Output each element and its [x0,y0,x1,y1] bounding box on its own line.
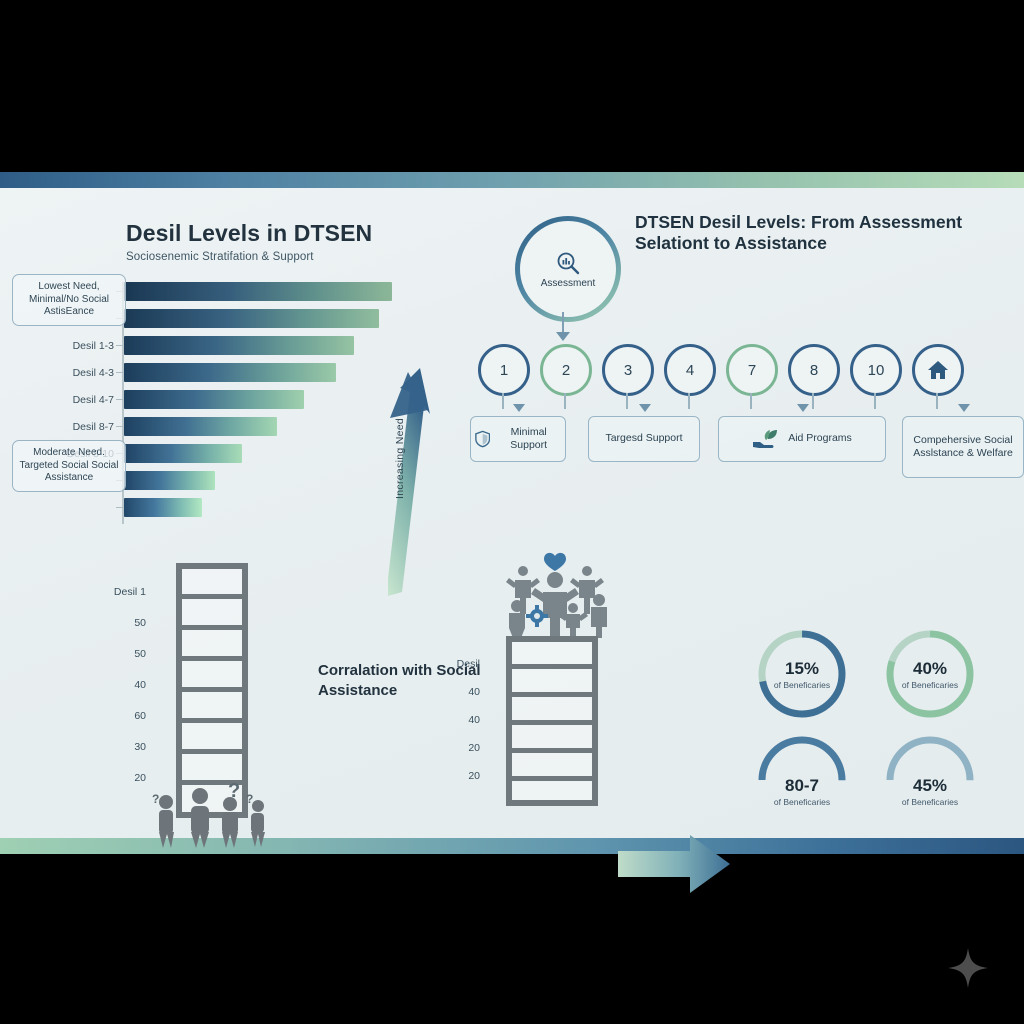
bar [124,282,392,301]
node-stem [502,393,504,409]
magnifier-chart-icon [555,250,581,276]
table-row [124,282,392,301]
people-heart-gear-icon [495,548,615,638]
ladder-label: Desil 1 [76,586,146,598]
ladder-label: 20 [76,772,146,784]
assessment-stem-arrow-icon [556,332,570,341]
ladder-rung [506,720,598,725]
desil-node-row: 12347810 [478,344,1024,404]
ladder-rung [506,776,598,781]
axis-tick [116,345,123,346]
ladder-rung [506,748,598,753]
table-row [124,390,304,409]
bar-label: Desil 8-7 [0,421,114,433]
poster-content: Desil Levels in DTSEN Sociosenemic Strat… [0,188,1024,838]
support-card[interactable]: Targesd Support [588,416,700,462]
table-row [124,444,242,463]
assessment-circle[interactable]: Assessment [515,216,621,322]
support-card-label: Aid Programs [788,432,852,445]
ladder-rung [506,664,598,669]
donut-value-group: 45%of Beneficaries [887,748,973,834]
donut-caption: of Beneficaries [902,680,958,690]
axis-tick [116,372,123,373]
ladder-label: 20 [410,742,480,754]
ladder-rung [176,718,248,723]
callout-lowest-need: Lowest Need, Minimal/No Social AstisEanc… [12,274,126,326]
ladder-label: 30 [76,741,146,753]
desil-node-7[interactable]: 7 [726,344,778,396]
ladder-label: Desil [410,658,480,670]
ladder-rung [506,692,598,697]
bar [124,417,277,436]
sparkle-icon [948,948,988,988]
card-arrow-icon [639,404,651,412]
right-arrow-icon [618,833,730,895]
node-stem [626,393,628,409]
support-card-row: Minimal SupportTargesd SupportAid Progra… [470,416,1024,486]
donut-value-group: 15%of Beneficaries [759,631,845,717]
node-label: 4 [686,362,694,379]
axis-tick [116,507,123,508]
node-home-icon[interactable] [912,344,964,396]
top-gradient-band [0,172,1024,188]
desil-node-4[interactable]: 4 [664,344,716,396]
node-stem [812,393,814,409]
hand-leaf-icon [752,427,782,451]
donut-chart: 40%of Beneficaries [884,628,976,720]
bar [124,471,215,490]
axis-tick [116,426,123,427]
bar-chart-subtitle: Sociosenemic Stratifation & Support [126,251,314,263]
node-label: 2 [562,362,570,379]
donut-chart: 15%of Beneficaries [756,628,848,720]
node-label: 1 [500,362,508,379]
desil-node-2[interactable]: 2 [540,344,592,396]
node-stem [874,393,876,409]
donut-value-group: 40%of Beneficaries [887,631,973,717]
desil-node-10[interactable]: 10 [850,344,902,396]
support-card-label: Minimal Support [496,426,561,452]
bar [124,309,379,328]
bar [124,444,242,463]
donut-value: 45% [913,776,947,796]
donut-caption: of Beneficaries [902,797,958,807]
bar-label: Desil 1-3 [0,340,114,352]
desil-node-8[interactable]: 8 [788,344,840,396]
support-card-label: Targesd Support [605,432,682,445]
ladder-label: 50 [76,648,146,660]
table-row [124,498,202,517]
assessment-label: Assessment [541,278,595,289]
node-stem [750,393,752,409]
donut-value: 15% [785,659,819,679]
donut-value-group: 80-7of Beneficaries [759,748,845,834]
ladder-rung [176,656,248,661]
bar-label: Desil 4-7 [0,394,114,406]
support-card[interactable]: Minimal Support [470,416,566,462]
bar [124,336,354,355]
support-card[interactable]: Aid Programs [718,416,886,462]
node-label: 10 [868,362,885,379]
bar [124,390,304,409]
donut-value: 80-7 [785,776,819,796]
node-label: 3 [624,362,632,379]
card-arrow-icon [513,404,525,412]
table-row [124,336,354,355]
ladder-label: 60 [76,710,146,722]
ladder-label: 50 [76,617,146,629]
shield-icon [475,429,490,449]
support-card[interactable]: Compehersive Social Asslstance & Welfare [902,416,1024,478]
donut-value: 40% [913,659,947,679]
ladder-rung [176,687,248,692]
flow-heading: DTSEN Desil Levels: From Assessment Sela… [635,212,1015,255]
bar-label: Desil 4-3 [0,367,114,379]
infographic-poster: Desil Levels in DTSEN Sociosenemic Strat… [0,172,1024,854]
donut-chart: 80-7of Beneficaries [756,734,848,826]
axis-tick [116,399,123,400]
table-row [124,309,379,328]
bar [124,498,202,517]
ladder-rung [176,594,248,599]
desil-node-3[interactable]: 3 [602,344,654,396]
bar [124,363,336,382]
donut-caption: of Beneficaries [774,797,830,807]
people-group-icon [140,788,270,848]
support-card-label: Compehersive Social Asslstance & Welfare [907,434,1019,460]
ladder-label: 40 [410,686,480,698]
ladder-rung [176,749,248,754]
node-stem [688,393,690,409]
desil-node-1[interactable]: 1 [478,344,530,396]
assessment-stem [562,312,564,334]
ladder-label: 40 [76,679,146,691]
ladder-right [506,636,598,806]
table-row [124,363,336,382]
node-stem [564,393,566,409]
node-label: 7 [748,362,756,379]
node-stem [936,393,938,409]
table-row [124,417,277,436]
home-icon [926,358,950,382]
ladder-label: 20 [410,770,480,782]
increasing-need-label: Increasing Need [394,418,406,499]
donut-chart: 45%of Beneficaries [884,734,976,826]
card-arrow-icon [958,404,970,412]
screenshot-root: Desil Levels in DTSEN Sociosenemic Strat… [0,0,1024,1024]
donut-caption: of Beneficaries [774,680,830,690]
ladder-label: 40 [410,714,480,726]
ladder-rung [176,625,248,630]
node-label: 8 [810,362,818,379]
callout-moderate-need: Moderate Need. Targeted Social Social As… [12,440,126,492]
card-arrow-icon [797,404,809,412]
table-row [124,471,215,490]
bar-chart-title: Desil Levels in DTSEN [126,220,372,247]
assessment-flow-panel: Assessment DTSEN Desil Levels: From Asse… [470,204,1024,534]
